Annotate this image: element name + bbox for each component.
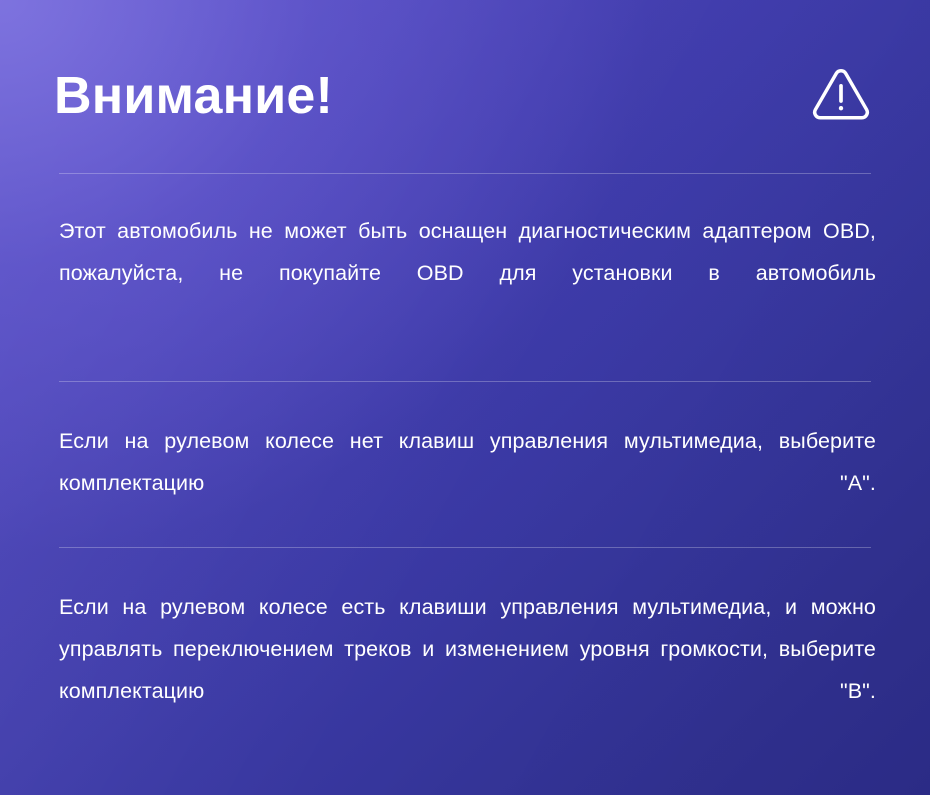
paragraph-obd-warning: Этот автомобиль не может быть оснащен ди… (59, 210, 876, 336)
warning-triangle-icon (810, 65, 876, 127)
divider-top (59, 173, 871, 174)
warning-banner: Внимание! Этот автомобиль не может быть … (0, 0, 930, 795)
banner-header: Внимание! (54, 52, 876, 140)
banner-content: Внимание! Этот автомобиль не может быть … (0, 0, 930, 795)
paragraph-trim-b: Если на рулевом колесе есть клавиши упра… (59, 586, 876, 754)
divider-middle (59, 381, 871, 382)
page-title: Внимание! (54, 69, 333, 124)
paragraph-trim-a: Если на рулевом колесе нет клавиш управл… (59, 420, 876, 546)
divider-bottom (59, 547, 871, 548)
